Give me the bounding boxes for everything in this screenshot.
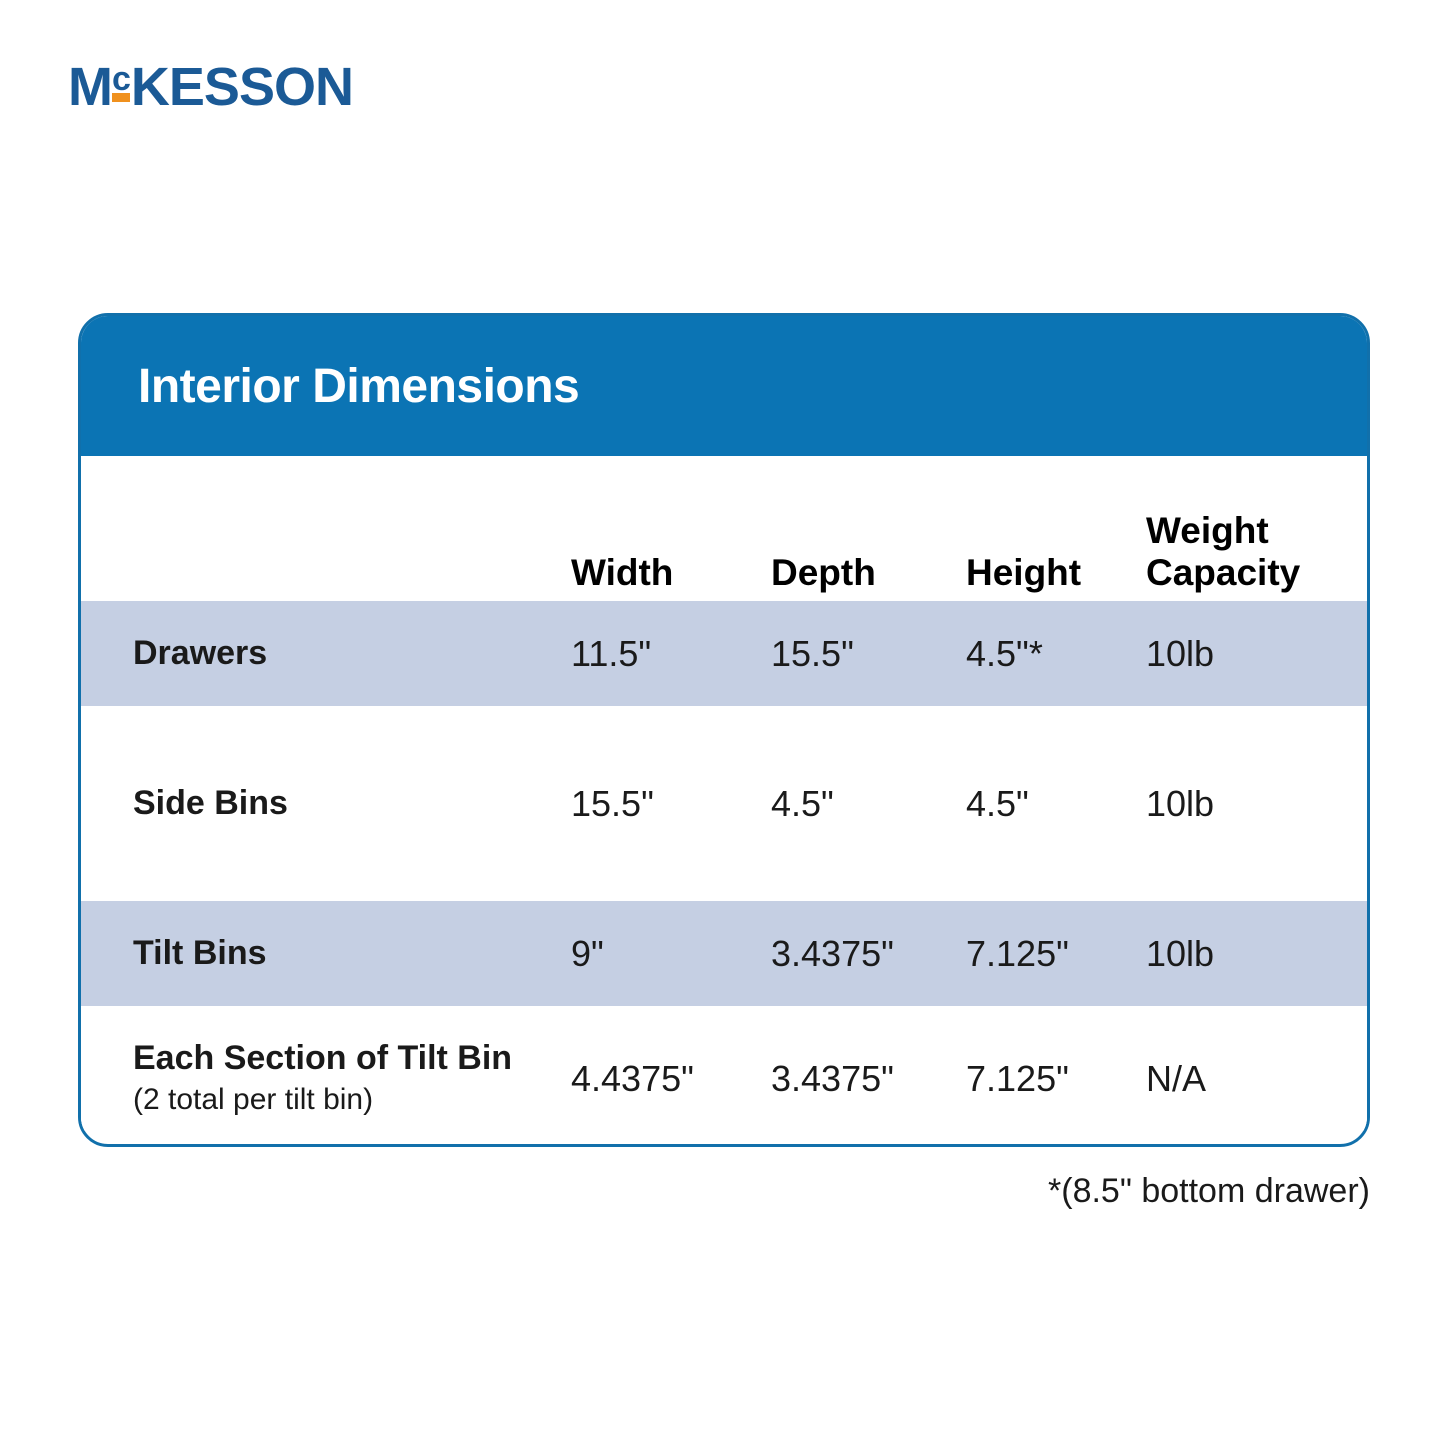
cell-height: 7.125" [966,934,1146,974]
table-row: Tilt Bins 9" 3.4375" 7.125" 10lb [81,901,1367,1006]
row-sublabel: (2 total per tilt bin) [133,1082,571,1118]
logo-letters-kesson: KESSON [131,60,353,114]
header-weight-line1: Weight [1146,510,1346,551]
cell-depth: 3.4375" [771,1059,966,1099]
row-label: Tilt Bins [133,934,571,973]
cell-width: 11.5" [571,634,771,674]
row-label: Side Bins [133,784,571,823]
row-label-cell: Side Bins [133,784,571,823]
cell-width: 4.4375" [571,1059,771,1099]
cell-weight-capacity: N/A [1146,1059,1346,1099]
dimensions-table: Width Depth Height Weight Capacity Drawe… [81,456,1367,1131]
footnote: *(8.5" bottom drawer) [1048,1172,1370,1211]
cell-height: 4.5" [966,784,1146,824]
cell-depth: 15.5" [771,634,966,674]
cell-weight-capacity: 10lb [1146,634,1346,674]
cell-weight-capacity: 10lb [1146,934,1346,974]
row-label: Drawers [133,634,571,673]
cell-width: 9" [571,934,771,974]
cell-height: 7.125" [966,1059,1146,1099]
logo-orange-bar [112,93,130,102]
logo-letter-m: M [68,60,112,114]
card-title: Interior Dimensions [138,359,579,414]
header-cell-height: Height [966,552,1146,593]
row-gap [81,1006,1367,1026]
cell-weight-capacity: 10lb [1146,784,1346,824]
row-label: Each Section of Tilt Bin [133,1039,571,1078]
mckesson-logo: McKESSON [68,60,468,140]
header-cell-weight-capacity: Weight Capacity [1146,510,1346,593]
header-cell-depth: Depth [771,552,966,593]
cell-depth: 4.5" [771,784,966,824]
table-row: Drawers 11.5" 15.5" 4.5"* 10lb [81,601,1367,706]
table-header-row: Width Depth Height Weight Capacity [81,456,1367,601]
interior-dimensions-card: Interior Dimensions Width Depth Height W… [78,313,1370,1147]
card-header: Interior Dimensions [81,316,1367,456]
header-cell-width: Width [571,552,771,593]
table-row: Each Section of Tilt Bin (2 total per ti… [81,1026,1367,1131]
logo-wordmark: McKESSON [68,60,468,114]
row-label-cell: Tilt Bins [133,934,571,973]
logo-superscript-c: c [112,60,130,96]
row-label-cell: Drawers [133,634,571,673]
row-gap [81,706,1367,751]
row-label-cell: Each Section of Tilt Bin (2 total per ti… [133,1039,571,1118]
cell-depth: 3.4375" [771,934,966,974]
cell-height: 4.5"* [966,634,1146,674]
header-weight-line2: Capacity [1146,552,1346,593]
cell-width: 15.5" [571,784,771,824]
table-row: Side Bins 15.5" 4.5" 4.5" 10lb [81,751,1367,856]
row-gap [81,856,1367,901]
